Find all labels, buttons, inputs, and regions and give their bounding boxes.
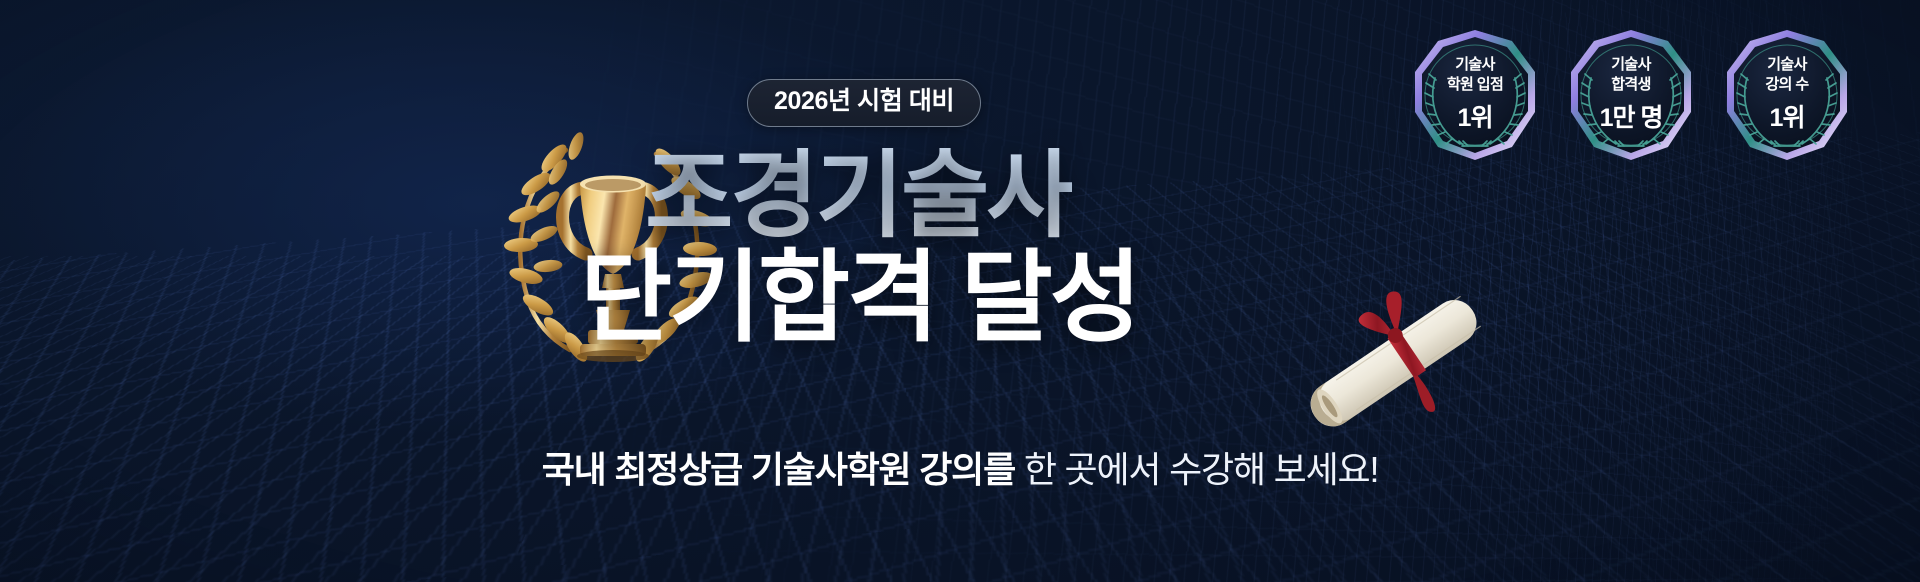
achievement-badge: 기술사 강의 수 1위	[1720, 28, 1854, 162]
promo-banner: 2026년 시험 대비 조경기술사 단기합격 달성 국내 최정상급 기술사학원 …	[0, 0, 1920, 582]
medal-icon	[1564, 28, 1698, 162]
medal-icon	[1408, 28, 1542, 162]
achievement-badges: 기술사 학원 입점 1위 기술사 합	[1408, 28, 1854, 162]
subtitle-light: 한 곳에서 수강해 보세요!	[1015, 449, 1378, 490]
medal-icon	[1720, 28, 1854, 162]
subtitle-strong: 국내 최정상급 기술사학원 강의를	[542, 449, 1015, 490]
subtitle: 국내 최정상급 기술사학원 강의를 한 곳에서 수강해 보세요!	[0, 448, 1920, 491]
headline-line-1: 조경기술사	[645, 148, 1072, 244]
achievement-badge: 기술사 학원 입점 1위	[1408, 28, 1542, 162]
achievement-badge: 기술사 합격생 1만 명	[1564, 28, 1698, 162]
headline-line-2: 단기합격 달성	[580, 248, 1139, 348]
